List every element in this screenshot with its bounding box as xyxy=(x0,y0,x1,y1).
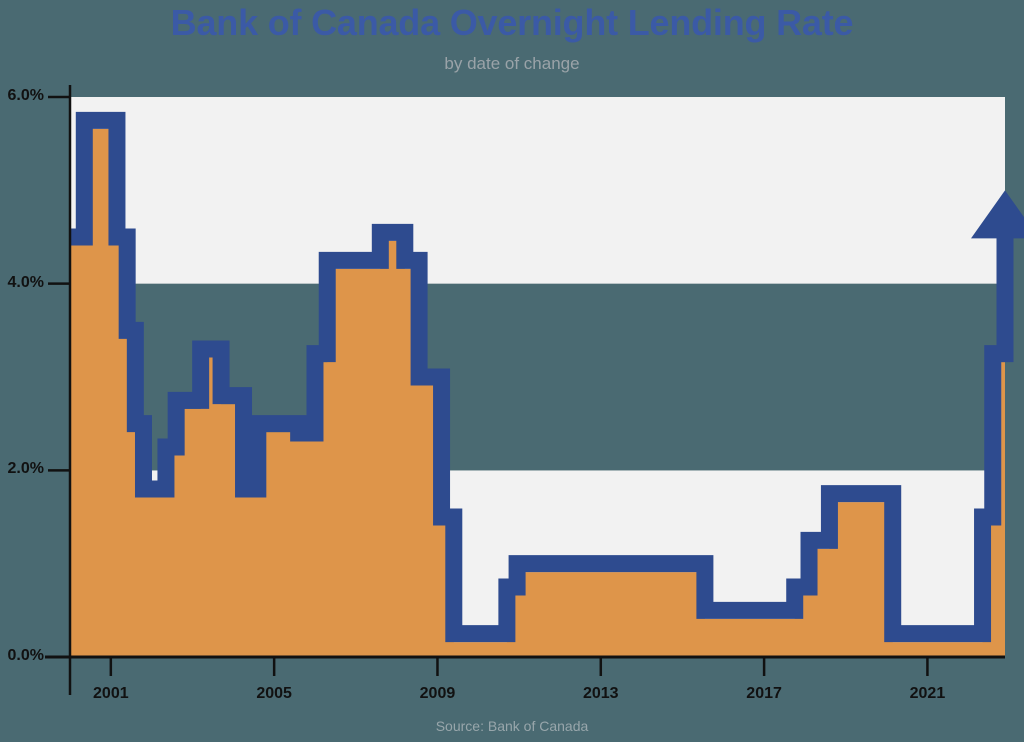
x-tick-label-5: 2021 xyxy=(887,685,967,703)
y-tick-label-3: 6.0% xyxy=(8,87,44,105)
chart-container: Bank of Canada Overnight Lending Rate by… xyxy=(0,0,1024,742)
x-tick-label-1: 2005 xyxy=(234,685,314,703)
y-tick-label-0: 0.0% xyxy=(8,647,44,665)
chart-title: Bank of Canada Overnight Lending Rate xyxy=(0,2,1024,44)
plot-band-2 xyxy=(70,97,1005,284)
x-tick-label-3: 2013 xyxy=(561,685,641,703)
y-tick-label-1: 2.0% xyxy=(8,460,44,478)
x-tick-label-0: 2001 xyxy=(71,685,151,703)
chart-plot-svg xyxy=(0,0,1024,742)
x-tick-label-2: 2009 xyxy=(397,685,477,703)
chart-source-note: Source: Bank of Canada xyxy=(0,718,1024,734)
y-tick-label-2: 4.0% xyxy=(8,274,44,292)
x-tick-label-4: 2017 xyxy=(724,685,804,703)
chart-subtitle: by date of change xyxy=(0,54,1024,74)
